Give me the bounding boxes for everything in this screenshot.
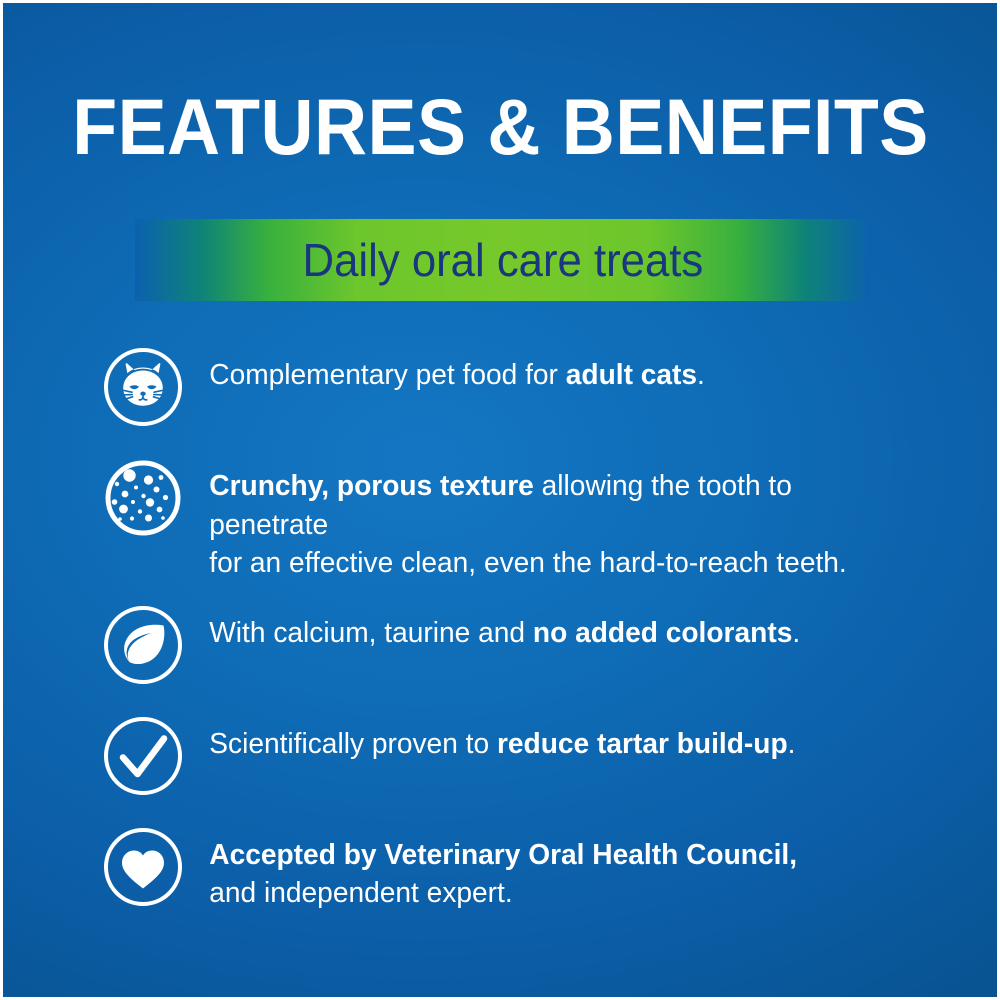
body-text: Complementary pet food for bbox=[209, 359, 565, 391]
subtitle-banner: Daily oral care treats bbox=[135, 219, 871, 301]
list-item: Accepted by Veterinary Oral Health Counc… bbox=[3, 825, 1000, 913]
body-text: and independent expert. bbox=[209, 877, 512, 909]
page-title-container: FEATURES & BENEFITS bbox=[3, 89, 997, 165]
leaf-icon bbox=[101, 603, 185, 687]
cat-face-icon bbox=[101, 345, 185, 429]
emphasis-text: Crunchy, porous texture bbox=[209, 470, 534, 502]
body-text: . bbox=[788, 728, 796, 760]
list-item-text: Complementary pet food for adult cats. bbox=[185, 345, 893, 395]
list-item: Scientifically proven to reduce tartar b… bbox=[3, 714, 1000, 798]
page-title: FEATURES & BENEFITS bbox=[72, 89, 929, 165]
body-text: . bbox=[792, 617, 800, 649]
feature-text-line: Complementary pet food for adult cats. bbox=[209, 359, 705, 391]
feature-text-line: Crunchy, porous texture allowing the too… bbox=[209, 470, 846, 579]
list-item-text: Accepted by Veterinary Oral Health Counc… bbox=[185, 825, 893, 913]
feature-text-line: Scientifically proven to reduce tartar b… bbox=[209, 728, 795, 760]
features-list: Complementary pet food for adult cats. bbox=[3, 345, 1000, 913]
subtitle-text: Daily oral care treats bbox=[303, 237, 704, 283]
feature-text-line: With calcium, taurine and no added color… bbox=[209, 617, 800, 649]
features-benefits-poster: FEATURES & BENEFITS Daily oral care trea… bbox=[0, 0, 1000, 1000]
checkmark-icon bbox=[101, 714, 185, 798]
body-text: With calcium, taurine and bbox=[209, 617, 533, 649]
body-text: Scientifically proven to bbox=[209, 728, 497, 760]
body-text: . bbox=[697, 359, 705, 391]
list-item: With calcium, taurine and no added color… bbox=[3, 603, 1000, 687]
feature-text-line: Accepted by Veterinary Oral Health Counc… bbox=[209, 839, 797, 910]
emphasis-text: no added colorants bbox=[533, 617, 792, 649]
body-text: for an effective clean, even the hard-to… bbox=[209, 547, 846, 579]
list-item-text: Crunchy, porous texture allowing the too… bbox=[185, 456, 893, 583]
list-item-text: Scientifically proven to reduce tartar b… bbox=[185, 714, 893, 764]
list-item: Crunchy, porous texture allowing the too… bbox=[3, 456, 1000, 583]
emphasis-text: adult cats bbox=[566, 359, 697, 391]
list-item: Complementary pet food for adult cats. bbox=[3, 345, 1000, 429]
emphasis-text: Accepted by Veterinary Oral Health Counc… bbox=[209, 839, 797, 871]
heart-icon bbox=[101, 825, 185, 909]
porous-texture-icon bbox=[101, 456, 185, 540]
emphasis-text: reduce tartar build-up bbox=[497, 728, 788, 760]
list-item-text: With calcium, taurine and no added color… bbox=[185, 603, 893, 653]
